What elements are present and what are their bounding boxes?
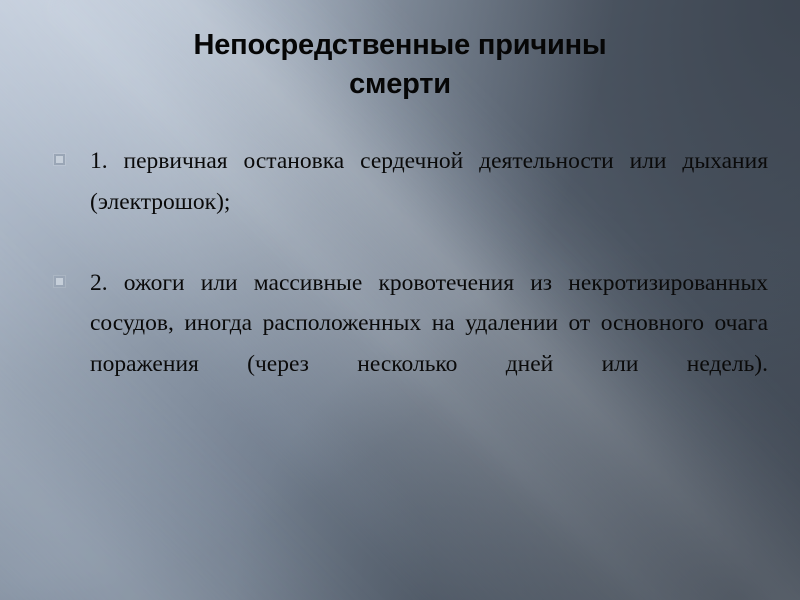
list-item-text: 2. ожоги или массивные кровотечения из н…	[90, 263, 768, 425]
slide-body-list: 1. первичная остановка сердечной деятель…	[50, 141, 768, 425]
square-bullet-icon	[54, 276, 65, 287]
slide-title: Непосредственные причины смерти	[60, 26, 740, 104]
list-item-text: 1. первичная остановка сердечной деятель…	[90, 141, 768, 263]
list-item: 1. первичная остановка сердечной деятель…	[50, 141, 768, 263]
slide-content: Непосредственные причины смерти 1. перви…	[0, 0, 800, 600]
square-bullet-icon	[54, 154, 65, 165]
presentation-slide: Непосредственные причины смерти 1. перви…	[0, 0, 800, 600]
list-item: 2. ожоги или массивные кровотечения из н…	[50, 263, 768, 425]
